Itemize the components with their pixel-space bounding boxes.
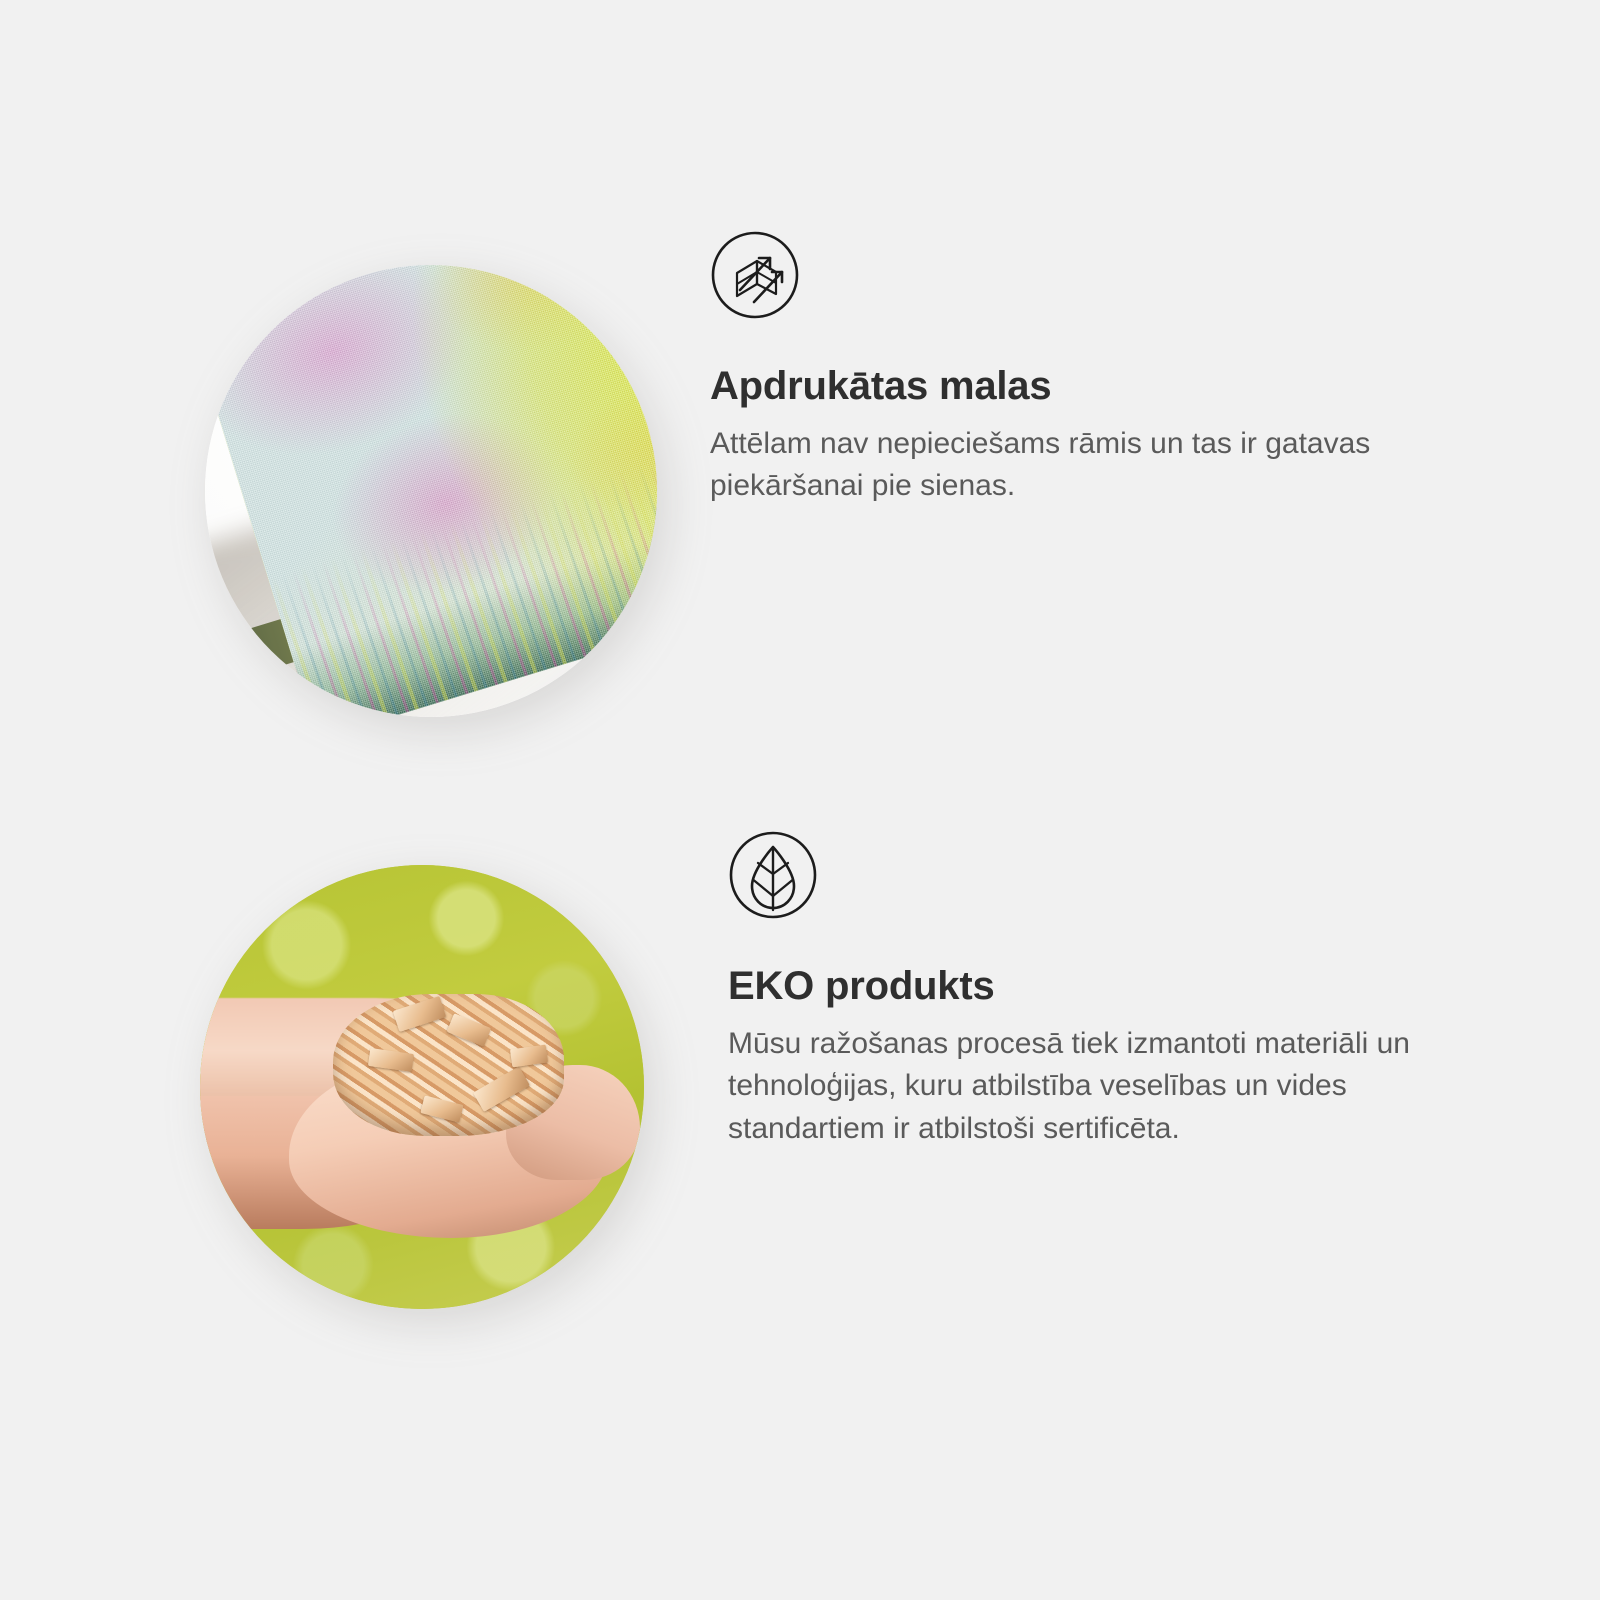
hands-holding-wood-chips-photo <box>0 830 700 1390</box>
eco-product-copy: EKO produkts Mūsu ražošanas procesā tiek… <box>728 830 1488 1151</box>
feature-printed-edges: Apdrukātas malas Attēlam nav nepieciešam… <box>0 230 1600 790</box>
circular-photo-frame <box>205 265 657 717</box>
feature-highlights-page: Apdrukātas malas Attēlam nav nepieciešam… <box>0 0 1600 1600</box>
circular-photo-frame <box>200 865 644 1309</box>
leaf-icon <box>728 830 818 920</box>
printed-edges-copy: Apdrukātas malas Attēlam nav nepieciešam… <box>710 230 1470 508</box>
canvas-print-corner-photo <box>0 230 700 790</box>
feature-title: EKO produkts <box>728 964 1488 1009</box>
canvas-wrap-arrows-icon <box>710 230 800 320</box>
feature-description: Mūsu ražošanas procesā tiek izmantoti ma… <box>728 1023 1428 1151</box>
feature-title: Apdrukātas malas <box>710 364 1470 409</box>
feature-description: Attēlam nav nepieciešams rāmis un tas ir… <box>710 423 1410 508</box>
feature-eco-product: EKO produkts Mūsu ražošanas procesā tiek… <box>0 830 1600 1390</box>
